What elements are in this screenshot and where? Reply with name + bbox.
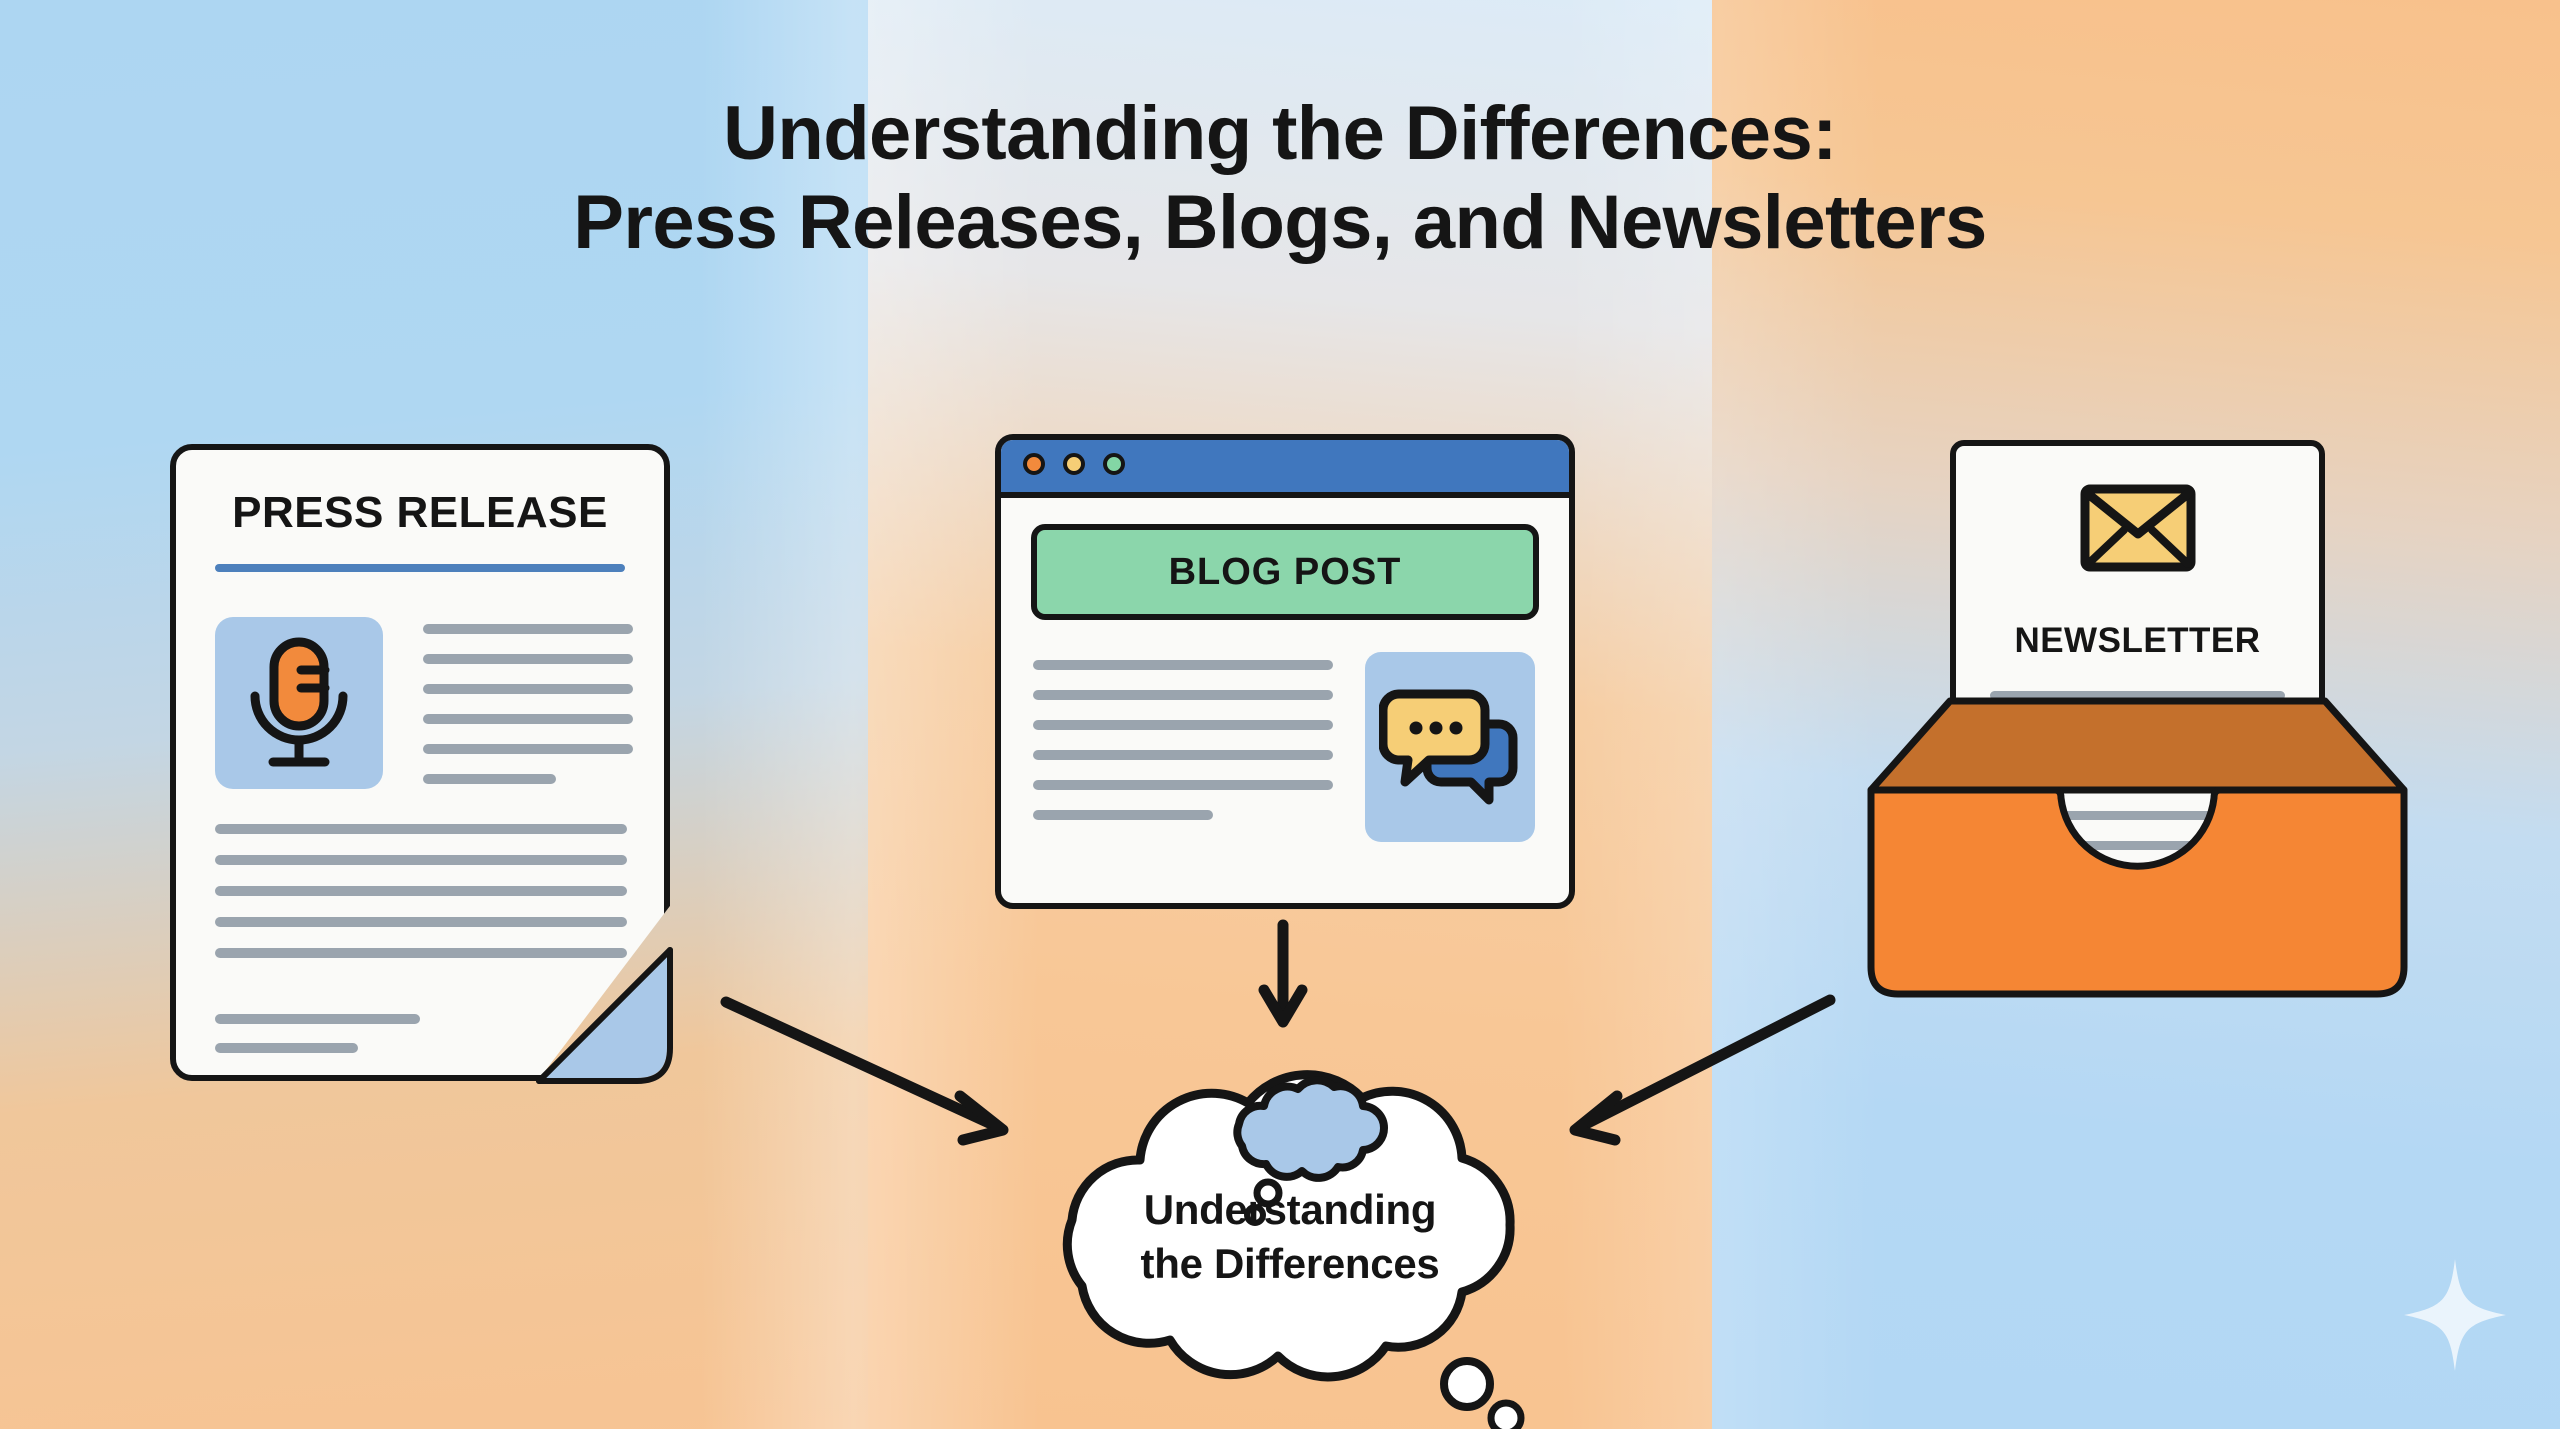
envelope-icon [2080, 484, 2196, 572]
text-line [1033, 720, 1333, 730]
text-line [1033, 810, 1213, 820]
text-line [423, 624, 633, 634]
thought-cloud-line-1: Understanding [1010, 1183, 1570, 1237]
window-close-dot[interactable] [1023, 453, 1045, 475]
text-line [1033, 750, 1333, 760]
text-line [215, 1043, 358, 1053]
chat-bubbles-icon [1379, 688, 1523, 806]
text-line [1033, 690, 1333, 700]
press-release-card[interactable]: PRESS RELEASE [170, 444, 670, 1081]
inbox-tray-icon [1865, 695, 2410, 1000]
press-release-title: PRESS RELEASE [170, 488, 670, 538]
infographic-canvas: Understanding the Differences: Press Rel… [0, 0, 2560, 1429]
thought-cloud-text: Understanding the Differences [1010, 1183, 1570, 1291]
text-line [423, 684, 633, 694]
page-title: Understanding the Differences: Press Rel… [0, 90, 2560, 268]
text-line [423, 654, 633, 664]
text-line [215, 1014, 420, 1024]
sparkle-icon [2400, 1255, 2510, 1375]
text-line [423, 774, 556, 784]
text-line [215, 886, 627, 896]
newsletter-title: NEWSLETTER [1956, 621, 2319, 661]
text-line [215, 824, 627, 834]
window-maximize-dot[interactable] [1103, 453, 1125, 475]
microphone-tile [215, 617, 383, 789]
text-line [423, 744, 633, 754]
thought-cloud[interactable]: Understanding the Differences [1010, 1040, 1570, 1429]
text-line [1033, 780, 1333, 790]
microphone-icon [239, 634, 359, 772]
page-fold-corner [533, 944, 673, 1084]
text-line [1033, 660, 1333, 670]
text-line [423, 714, 633, 724]
blog-post-banner: BLOG POST [1031, 524, 1539, 620]
browser-titlebar [1001, 440, 1569, 498]
press-release-divider [215, 564, 625, 572]
text-line [215, 855, 627, 865]
page-title-line-1: Understanding the Differences: [723, 91, 1837, 176]
blog-post-window[interactable]: BLOG POST [995, 434, 1575, 909]
thought-cloud-line-2: the Differences [1010, 1237, 1570, 1291]
page-title-line-2: Press Releases, Blogs, and Newsletters [0, 179, 2560, 268]
text-line [215, 917, 627, 927]
chat-bubbles-tile [1365, 652, 1535, 842]
window-minimize-dot[interactable] [1063, 453, 1085, 475]
newsletter-group[interactable]: NEWSLETTER [1865, 440, 2410, 1000]
